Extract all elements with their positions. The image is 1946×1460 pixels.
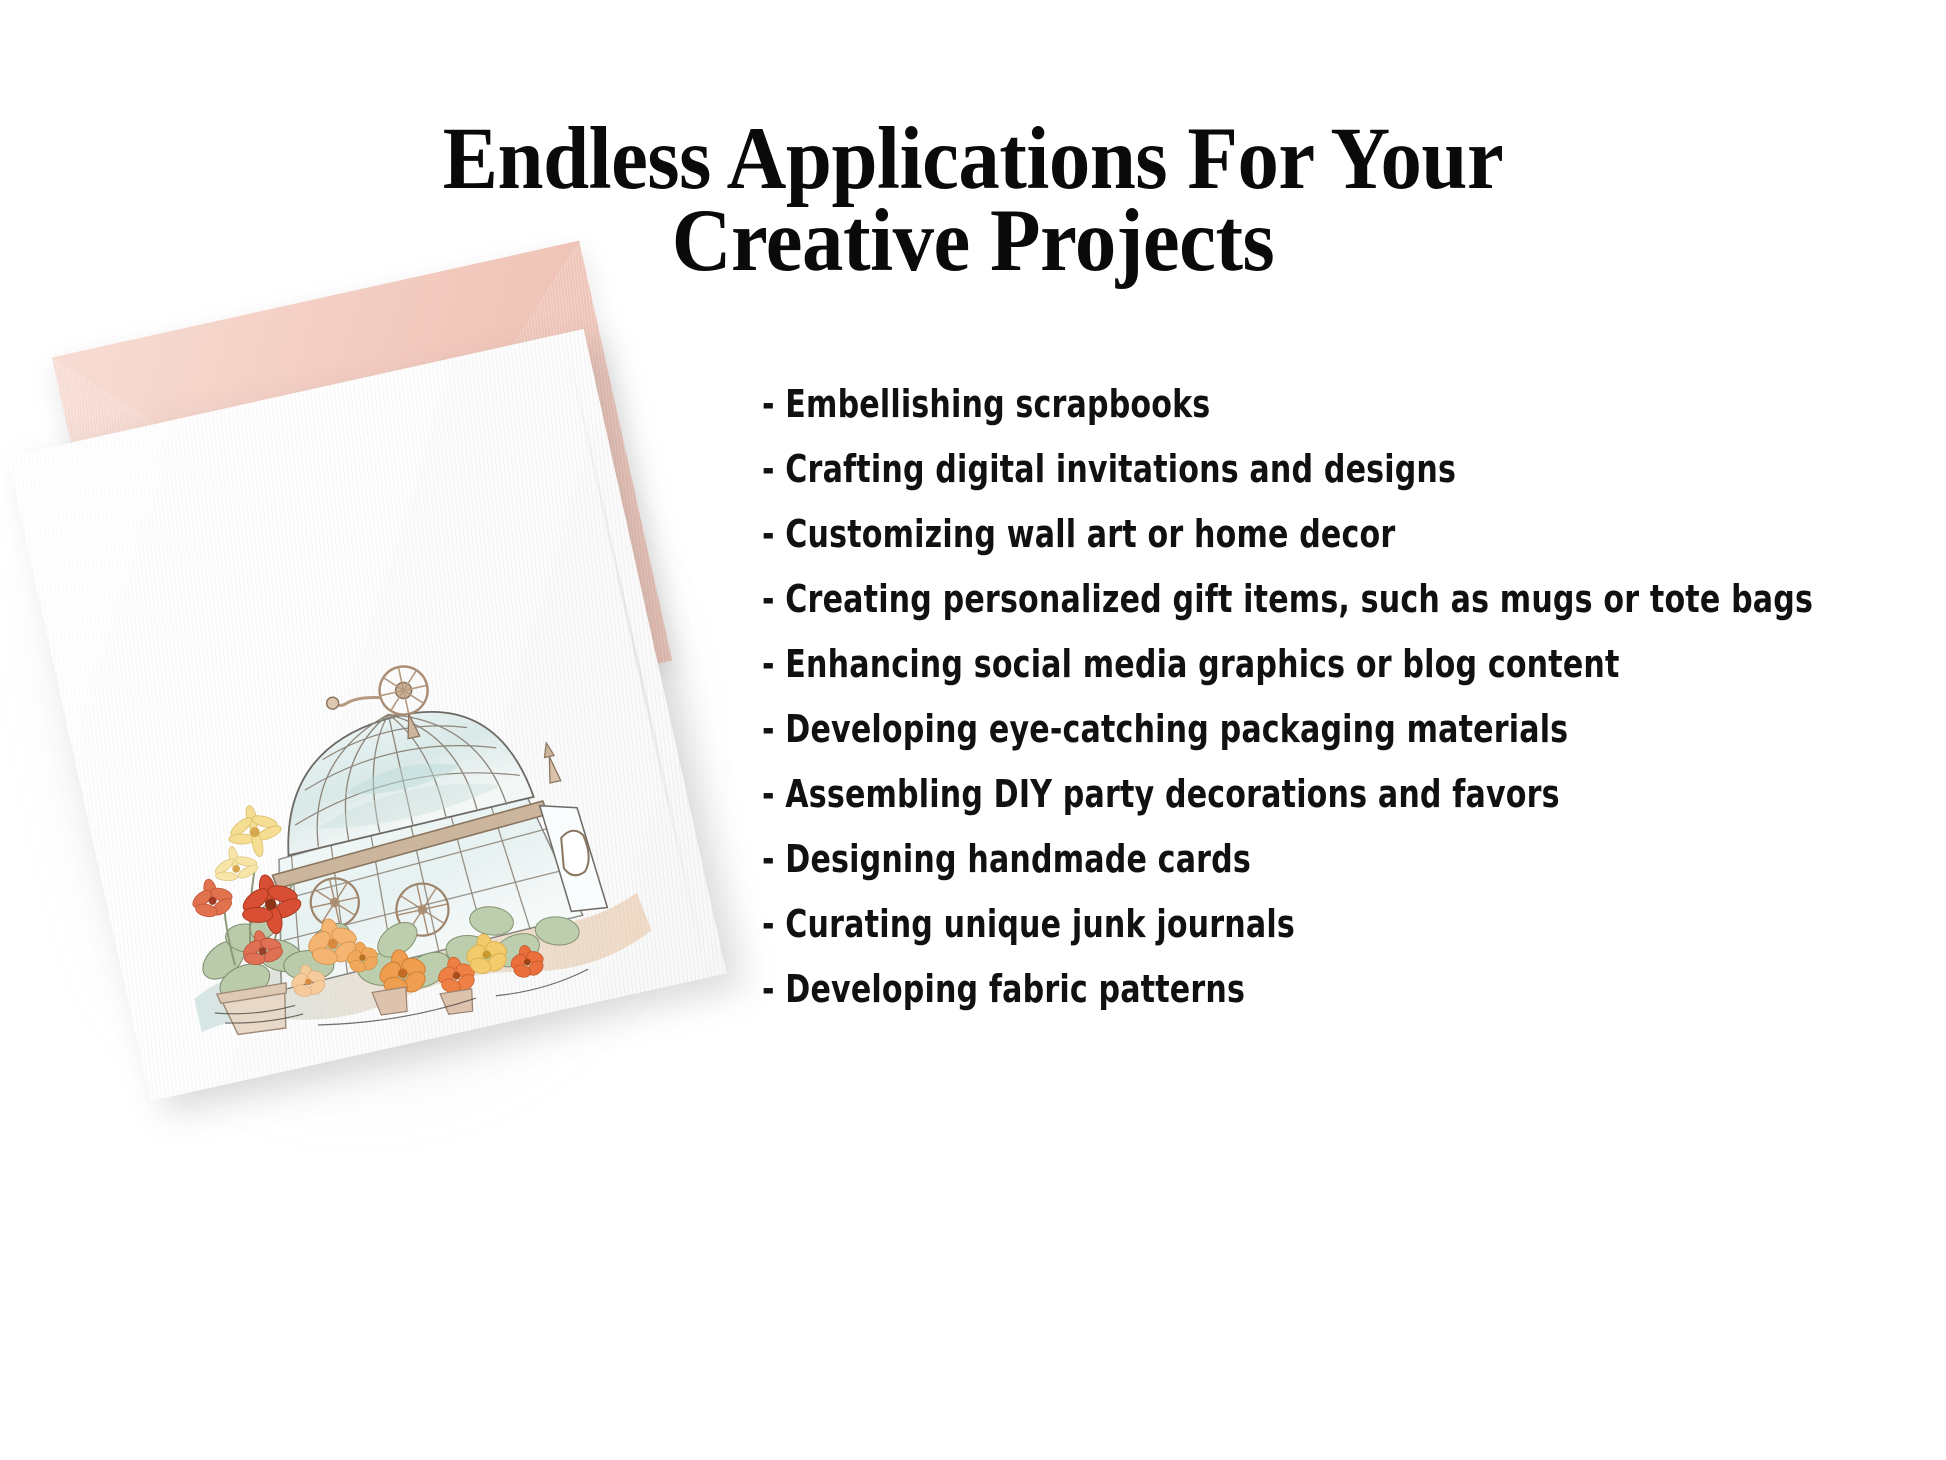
list-item: - Enhancing social media graphics or blo… xyxy=(762,632,1765,697)
list-item: - Curating unique junk journals xyxy=(762,892,1765,957)
yellow-daisy xyxy=(201,800,291,886)
list-item: - Creating personalized gift items, such… xyxy=(762,567,1765,632)
page-title-line-1: Endless Applications For Your xyxy=(68,118,1878,200)
list-item: - Crafting digital invitations and desig… xyxy=(762,437,1765,502)
list-item: - Assembling DIY party decorations and f… xyxy=(762,762,1765,827)
side-spire xyxy=(541,742,560,783)
promo-graphic: Endless Applications For Your Creative P… xyxy=(0,0,1946,1460)
list-item: - Embellishing scrapbooks xyxy=(762,372,1765,437)
applications-list: - Embellishing scrapbooks - Crafting dig… xyxy=(762,372,1902,1022)
list-item: - Designing handmade cards xyxy=(762,827,1765,892)
list-item: - Developing fabric patterns xyxy=(762,957,1765,1022)
list-item: - Developing eye-catching packaging mate… xyxy=(762,697,1765,762)
list-item: - Customizing wall art or home decor xyxy=(762,502,1765,567)
